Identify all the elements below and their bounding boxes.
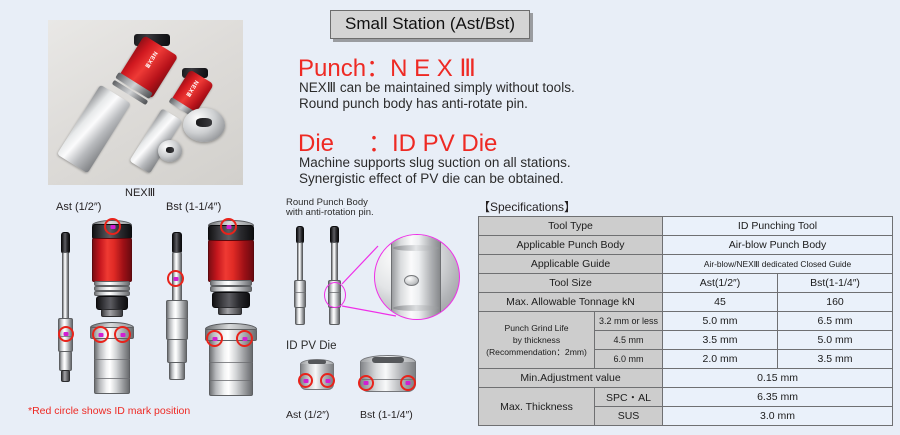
cell-grind-bst-3: 3.5 mm bbox=[778, 350, 893, 369]
punch-heading-value: N E X Ⅲ bbox=[390, 55, 476, 82]
id-mark-die-ast-left bbox=[298, 373, 313, 388]
round-punch-body-diagram bbox=[286, 220, 466, 335]
cell-grind-ast-3: 2.0 mm bbox=[663, 350, 778, 369]
spec-table-title: 【Specifications】 bbox=[478, 198, 576, 215]
label-bst-size: Bst (1-1/4″) bbox=[166, 201, 221, 213]
cell-tool-size-bst: Bst(1-1/4″) bbox=[778, 274, 893, 293]
cell-grind-ast-1: 5.0 mm bbox=[663, 312, 778, 331]
callout-magnified-view bbox=[374, 234, 460, 320]
footnote-red-circle: *Red circle shows ID mark position bbox=[28, 405, 190, 417]
product-photo: NEXⅢ NEXⅢ bbox=[48, 20, 243, 185]
cell-grind-life-label: Punch Grind Life by thickness (Recommend… bbox=[479, 312, 595, 369]
cell-tool-type-label: Tool Type bbox=[479, 217, 663, 236]
id-mark-bst-punch bbox=[167, 270, 184, 287]
specifications-table: Tool Type ID Punching Tool Applicable Pu… bbox=[478, 216, 893, 426]
table-row: Applicable Guide Air-blow/NEXⅢ dedicated… bbox=[479, 255, 893, 274]
cell-max-thickness-label: Max. Thickness bbox=[479, 388, 595, 426]
id-mark-ast-body-top bbox=[104, 218, 121, 235]
brand-mark-photo-large: NEXⅢ bbox=[143, 50, 159, 69]
table-row: Tool Size Ast(1/2″) Bst(1-1/4″) bbox=[479, 274, 893, 293]
label-ast-size: Ast (1/2″) bbox=[56, 201, 101, 213]
die-label-bst: Bst (1-1/4″) bbox=[360, 409, 413, 421]
label-nex3: NEXⅢ bbox=[125, 186, 155, 199]
id-pv-die-illustration bbox=[286, 355, 466, 401]
brand-mark-photo-small: NEXⅢ bbox=[184, 79, 200, 98]
cell-grind-bst-1: 6.5 mm bbox=[778, 312, 893, 331]
punch-heading-separator: ： bbox=[366, 55, 390, 82]
id-mark-die-ast-right bbox=[320, 373, 335, 388]
grind-life-label-line3: (Recommendation：2mm) bbox=[481, 346, 592, 358]
die-desc-line2: Synergistic effect of PV die can be obta… bbox=[299, 170, 564, 187]
punch-desc-line2: Round punch body has anti-rotate pin. bbox=[299, 95, 528, 112]
die-heading-value: ID PV Die bbox=[392, 130, 497, 157]
id-pv-die-title: ID PV Die bbox=[286, 338, 337, 355]
cell-tonnage-bst: 160 bbox=[778, 293, 893, 312]
anti-rotation-pin-icon bbox=[404, 275, 419, 286]
cell-grind-thickness-1: 3.2 mm or less bbox=[595, 312, 663, 331]
cell-max-thickness-value-2: 3.0 mm bbox=[663, 407, 893, 426]
die-label-ast: Ast (1/2″) bbox=[286, 409, 329, 421]
cell-tool-size-ast: Ast(1/2″) bbox=[663, 274, 778, 293]
callout-source-marker bbox=[324, 282, 346, 308]
cell-grind-bst-2: 5.0 mm bbox=[778, 331, 893, 350]
table-row: Min.Adjustment value 0.15 mm bbox=[479, 369, 893, 388]
cell-grind-thickness-3: 6.0 mm bbox=[595, 350, 663, 369]
cell-grind-thickness-2: 4.5 mm bbox=[595, 331, 663, 350]
cell-min-adjustment-value: 0.15 mm bbox=[663, 369, 893, 388]
id-mark-bst-body-top bbox=[220, 218, 237, 235]
cell-punch-body-label: Applicable Punch Body bbox=[479, 236, 663, 255]
punch-heading: Punch：N E X Ⅲ bbox=[298, 48, 476, 83]
table-row: Applicable Punch Body Air-blow Punch Bod… bbox=[479, 236, 893, 255]
table-row: Punch Grind Life by thickness (Recommend… bbox=[479, 312, 893, 331]
punch-heading-label: Punch bbox=[298, 55, 366, 82]
grind-life-label-line1: Punch Grind Life bbox=[481, 322, 592, 334]
cell-grind-ast-2: 3.5 mm bbox=[663, 331, 778, 350]
id-mark-die-bst-right bbox=[400, 375, 416, 391]
cell-min-adjustment-label: Min.Adjustment value bbox=[479, 369, 663, 388]
cell-max-thickness-value-1: 6.35 mm bbox=[663, 388, 893, 407]
id-mark-die-bst-left bbox=[358, 375, 374, 391]
bst-tool-illustration bbox=[150, 218, 270, 398]
cell-tool-type-value: ID Punching Tool bbox=[663, 217, 893, 236]
die-heading-label: Die bbox=[298, 130, 334, 157]
table-row: Max. Allowable Tonnage kN 45 160 bbox=[479, 293, 893, 312]
ast-tool-illustration bbox=[34, 218, 144, 398]
section-title-chip: Small Station (Ast/Bst) bbox=[330, 10, 530, 39]
grind-life-label-line2: by thickness bbox=[481, 334, 592, 346]
cell-guide-value: Air-blow/NEXⅢ dedicated Closed Guide bbox=[663, 255, 893, 274]
die-desc-line1: Machine supports slug suction on all sta… bbox=[299, 154, 571, 171]
id-mark-ast-guide-left bbox=[92, 326, 109, 343]
cell-guide-label: Applicable Guide bbox=[479, 255, 663, 274]
id-mark-ast-punch bbox=[58, 326, 74, 342]
cell-tonnage-ast: 45 bbox=[663, 293, 778, 312]
table-row: Tool Type ID Punching Tool bbox=[479, 217, 893, 236]
id-mark-bst-guide-left bbox=[206, 330, 223, 347]
id-mark-ast-guide-right bbox=[114, 326, 131, 343]
die-heading-separator: ： bbox=[368, 130, 392, 157]
cell-max-thickness-material-1: SPC・AL bbox=[595, 388, 663, 407]
page-root: NEXⅢ NEXⅢ NEXⅢ Ast (1/2″) Bst (1-1/4″) bbox=[0, 0, 900, 435]
cell-max-thickness-material-2: SUS bbox=[595, 407, 663, 426]
round-body-note-line2: with anti-rotation pin. bbox=[286, 207, 374, 218]
cell-tonnage-label: Max. Allowable Tonnage kN bbox=[479, 293, 663, 312]
die-heading: Die：ID PV Die bbox=[298, 123, 497, 158]
table-row: Max. Thickness SPC・AL 6.35 mm bbox=[479, 388, 893, 407]
punch-desc-line1: NEXⅢ can be maintained simply without to… bbox=[299, 79, 575, 96]
cell-punch-body-value: Air-blow Punch Body bbox=[663, 236, 893, 255]
id-mark-bst-guide-right bbox=[236, 330, 253, 347]
cell-tool-size-label: Tool Size bbox=[479, 274, 663, 293]
